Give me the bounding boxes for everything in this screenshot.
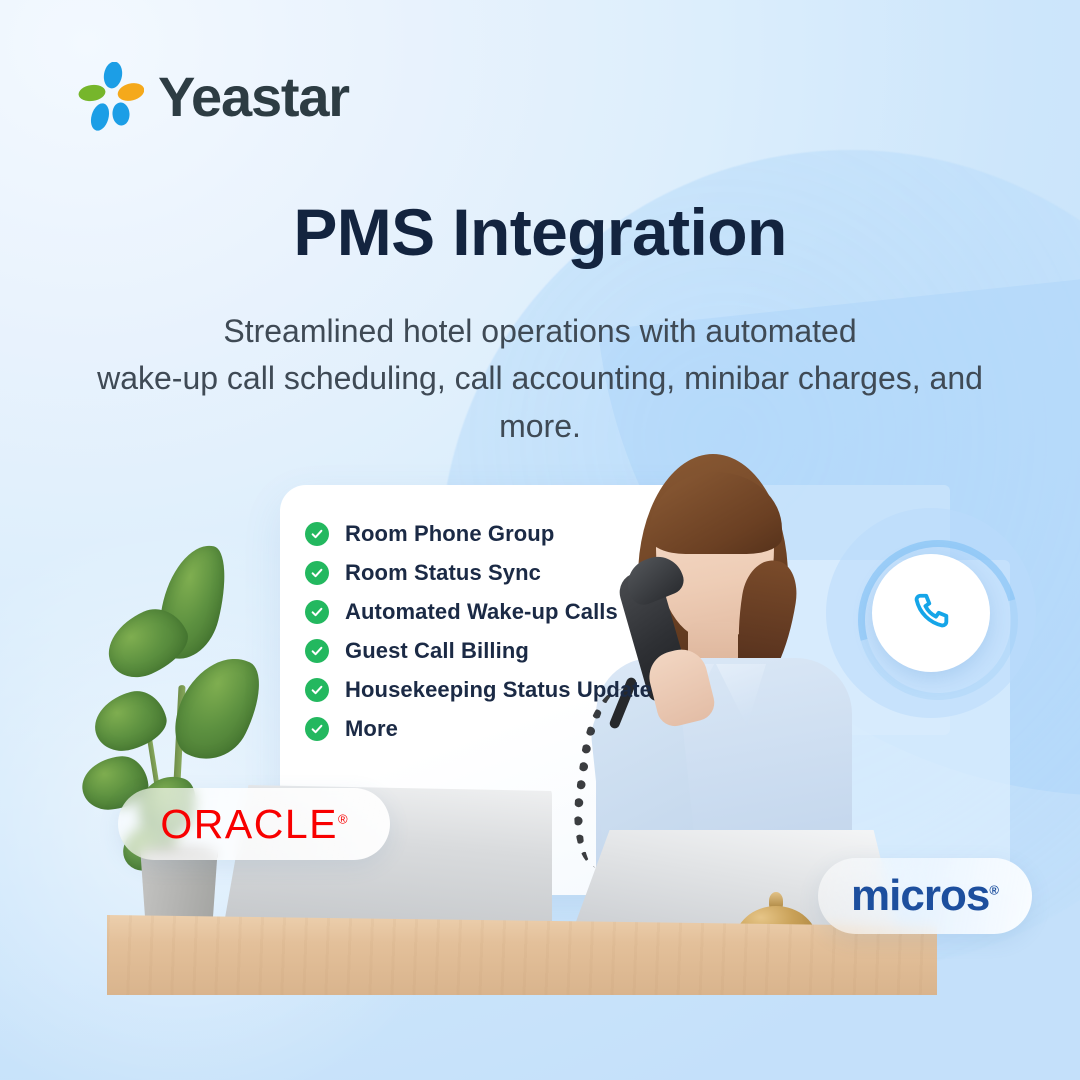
check-circle-icon	[305, 639, 329, 663]
feature-list: Room Phone Group Room Status Sync Automa…	[305, 518, 775, 744]
list-item: Room Status Sync	[305, 557, 775, 588]
check-circle-icon	[305, 561, 329, 585]
check-circle-icon	[305, 717, 329, 741]
hero-scene: Room Phone Group Room Status Sync Automa…	[0, 430, 1080, 1030]
feature-label: More	[345, 716, 398, 742]
oracle-trademark: ®	[338, 811, 348, 826]
micros-wordmark: micros®	[851, 874, 999, 918]
phone-badge[interactable]	[872, 554, 990, 672]
list-item: Room Phone Group	[305, 518, 775, 549]
oracle-name: ORACLE	[160, 801, 338, 847]
page-title: PMS Integration	[0, 197, 1080, 268]
list-item: More	[305, 713, 775, 744]
micros-name: micros	[851, 871, 989, 920]
check-circle-icon	[305, 522, 329, 546]
promo-graphic: Yeastar PMS Integration Streamlined hote…	[0, 0, 1080, 1080]
desk-surface	[107, 915, 937, 995]
list-item: Housekeeping Status Update	[305, 674, 775, 705]
partner-badge-micros[interactable]: micros®	[818, 858, 1032, 934]
phone-handset-icon	[908, 590, 954, 636]
partner-badge-oracle[interactable]: ORACLE®	[118, 788, 390, 860]
check-circle-icon	[305, 678, 329, 702]
brand-logo[interactable]: Yeastar	[78, 62, 349, 132]
feature-label: Room Phone Group	[345, 521, 554, 547]
yeastar-pinwheel-icon	[78, 62, 144, 132]
feature-label: Room Status Sync	[345, 560, 541, 586]
subtitle-line-1: Streamlined hotel operations with automa…	[60, 308, 1020, 355]
feature-label: Automated Wake-up Calls	[345, 599, 618, 625]
list-item: Guest Call Billing	[305, 635, 775, 666]
feature-label: Housekeeping Status Update	[345, 677, 652, 703]
feature-label: Guest Call Billing	[345, 638, 529, 664]
page-subtitle: Streamlined hotel operations with automa…	[60, 308, 1020, 450]
list-item: Automated Wake-up Calls	[305, 596, 775, 627]
desk-grain	[107, 915, 937, 995]
oracle-wordmark: ORACLE®	[160, 804, 347, 845]
check-circle-icon	[305, 600, 329, 624]
brand-wordmark: Yeastar	[158, 69, 349, 125]
micros-trademark: ®	[989, 882, 999, 897]
